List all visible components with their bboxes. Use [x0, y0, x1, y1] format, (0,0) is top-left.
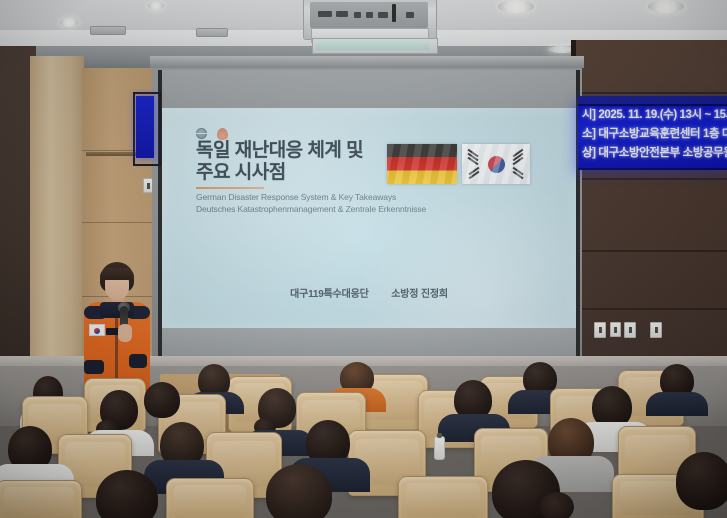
slide-subtitle-english: German Disaster Response System & Key Ta…: [196, 192, 456, 204]
ceiling-vent: [90, 26, 126, 35]
seat[interactable]: [398, 476, 488, 518]
light-switch[interactable]: [624, 322, 636, 338]
projector-port: [354, 12, 361, 18]
slide-footer: 대구119특수대응단 소방정 진정희: [162, 285, 576, 300]
ceiling-downlight: [498, 0, 534, 13]
south-korea-flag: [462, 144, 530, 184]
banner-line-audience: 상] 대구소방안전본부 소방공무원: [578, 144, 727, 163]
presenter-hair-fringe: [100, 268, 134, 280]
light-switch[interactable]: [594, 322, 606, 338]
presenter-hand: [118, 324, 132, 342]
projector-port: [378, 12, 388, 18]
audience-shoulders: [646, 392, 708, 416]
globe-icon: [196, 128, 207, 139]
projector-port: [318, 11, 332, 17]
wall-seam: [577, 178, 727, 180]
banner-line-datetime: 시] 2025. 11. 19.(수) 13시 ~ 15시: [578, 106, 727, 125]
wall-outlet[interactable]: [650, 322, 662, 338]
taegeuk-trigram: [468, 149, 479, 158]
taegeuk-trigram: [469, 167, 480, 176]
audience-head: [144, 382, 180, 418]
taegeuk-trigram: [513, 153, 524, 162]
wall-seam: [577, 250, 727, 252]
seat[interactable]: [166, 478, 254, 518]
taegeuk-trigram: [513, 171, 524, 180]
screen-top-rail: [150, 56, 584, 68]
screen-lower-margin: [162, 328, 576, 356]
ceiling-downlight: [148, 2, 164, 10]
lecture-hall-photo: 독일 재난대응 체계 및 주요 시사점 German Disaster Resp…: [0, 0, 727, 518]
taegeuk-trigram: [513, 167, 524, 176]
wall-seam: [577, 308, 727, 310]
slide-title-underline: [196, 187, 264, 189]
slide-footer-person: 소방정 진정희: [391, 289, 448, 300]
audience-hair-bun: [540, 492, 574, 518]
projector-port: [406, 12, 414, 18]
wall-seam: [577, 92, 727, 94]
slide-footer-org: 대구119특수대응단: [290, 289, 369, 300]
taegeuk-trigram: [468, 157, 479, 166]
projector-lens-glass: [316, 40, 430, 50]
taegeuk-trigram: [513, 157, 524, 166]
projector-port: [336, 11, 348, 17]
led-banner: 시] 2025. 11. 19.(수) 13시 ~ 15시 소] 대구소방교육훈…: [578, 104, 727, 170]
projector-port: [366, 12, 373, 18]
slide-subtitle-german: Deutsches Katastrophenmanagement & Zentr…: [196, 204, 456, 216]
germany-flag: [387, 144, 457, 184]
screen-upper-margin: [162, 70, 576, 108]
light-switch[interactable]: [610, 322, 621, 337]
projector-body: [310, 2, 428, 28]
audience-head: [266, 464, 332, 518]
wall-seam: [82, 222, 154, 223]
taegeuk-circle: [488, 156, 505, 173]
taegeuk-trigram: [469, 171, 480, 180]
fire-icon: [217, 128, 228, 140]
banner-line-location: 소] 대구소방교육훈련센터 1층 대: [578, 125, 727, 144]
water-bottle[interactable]: [434, 436, 445, 460]
ceiling-downlight: [648, 0, 684, 13]
ceiling-vent: [196, 28, 228, 37]
audience-head: [676, 452, 727, 510]
taegeuk-trigram: [468, 153, 479, 162]
projector-cable: [392, 4, 396, 22]
slide-subtitle: German Disaster Response System & Key Ta…: [196, 192, 456, 215]
seat[interactable]: [0, 480, 82, 518]
korea-flag-patch: [89, 324, 105, 336]
ceiling-downlight: [60, 18, 78, 27]
left-blue-display: [136, 96, 154, 158]
audience-area: [0, 360, 727, 518]
taegeuk-trigram: [513, 149, 524, 158]
